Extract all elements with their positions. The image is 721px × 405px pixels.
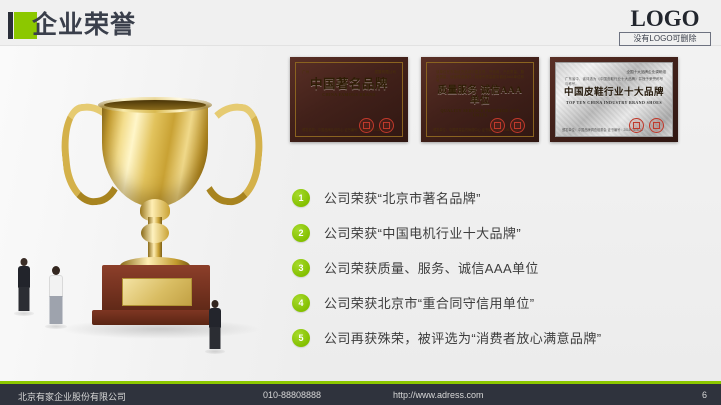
- certificate-seals: [629, 118, 664, 133]
- footer-url[interactable]: http://www.adress.com: [393, 390, 484, 400]
- trophy-stem-ball: [141, 223, 169, 243]
- certificate-gallery: 广州 发展有限公司 中国著名品牌 CHINA FAMOUS BRAND 颁发机构…: [290, 57, 680, 142]
- slide-canvas: 企业荣誉 LOGO 没有LOGO可删除: [0, 0, 721, 405]
- seal-stamp-icon: [649, 118, 664, 133]
- certificate-blurb: 该单位在市场经济活动中重合同、守信用、产品质量、服务质量、经营理念良好，特授予质…: [436, 70, 524, 84]
- header-accent-dark: [8, 12, 13, 39]
- certificate-toprow: 广州 发展有限公司: [302, 70, 396, 75]
- list-item-label: 公司再获殊荣，被评选为“消费者放心满意品牌”: [324, 328, 601, 347]
- footer-page-number: 6: [702, 390, 707, 400]
- logo-block: LOGO 没有LOGO可删除: [619, 7, 711, 46]
- person-body: [49, 275, 63, 297]
- certificate-toprow: 全国十大品牌企业调研组: [562, 70, 666, 75]
- list-item-label: 公司荣获“北京市著名品牌”: [324, 188, 481, 207]
- slide-header: 企业荣誉: [0, 0, 721, 46]
- list-item-number: 3: [292, 259, 310, 277]
- person-legs: [50, 296, 63, 324]
- person-shadow: [45, 324, 67, 329]
- certificate-title: 中国皮鞋行业十大品牌: [562, 89, 666, 99]
- footer-phone: 010-88808888: [263, 390, 321, 400]
- certificate-inner: 全国十大品牌企业调研组 广东省中、省评选为《中国皮鞋行业十大品牌》并授予荣誉称号…: [555, 62, 673, 137]
- certificate-top-right: 全国十大品牌企业调研组: [626, 70, 666, 75]
- person-shadow: [14, 311, 34, 316]
- page-title: 企业荣誉: [32, 10, 136, 40]
- person-figure-man-left: [44, 266, 68, 338]
- list-item[interactable]: 1 公司荣获“北京市著名品牌”: [292, 180, 692, 215]
- trophy-bowl: [102, 103, 208, 207]
- list-item[interactable]: 5 公司再获殊荣，被评选为“消费者放心满意品牌”: [292, 320, 692, 355]
- certificate-inner: 广州 发展有限公司 中国著名品牌 CHINA FAMOUS BRAND 颁发机构…: [295, 62, 403, 137]
- slide-footer: 北京有家企业股份有限公司 010-88808888 http://www.adr…: [0, 381, 721, 405]
- person-figure-man-right: [205, 300, 225, 360]
- trophy-rim-inner: [104, 100, 206, 110]
- certificate-title-en: CHINA FAMOUS BRAND: [302, 92, 396, 97]
- logo-text: LOGO: [619, 7, 711, 31]
- trophy-base-bottom: [92, 310, 220, 325]
- list-item-label: 公司荣获北京市“重合同守信用单位”: [324, 293, 534, 312]
- person-shadow: [205, 349, 225, 354]
- list-item[interactable]: 4 公司荣获北京市“重合同守信用单位”: [292, 285, 692, 320]
- person-head: [52, 266, 60, 275]
- certificate-title: 中国著名品牌: [302, 78, 396, 91]
- certificate-seals: [490, 118, 525, 133]
- list-item[interactable]: 2 公司荣获“中国电机行业十大品牌”: [292, 215, 692, 250]
- footer-company: 北京有家企业股份有限公司: [18, 390, 126, 403]
- seal-stamp-icon: [490, 118, 505, 133]
- logo-note: 没有LOGO可删除: [619, 32, 711, 46]
- list-item-number: 4: [292, 294, 310, 312]
- list-item-number: 5: [292, 329, 310, 347]
- trophy-illustration: [40, 95, 270, 335]
- certificate-title-en: QUALITY SERVICE PRESTIGE AAA UNITS: [433, 108, 527, 117]
- list-item-label: 公司荣获质量、服务、诚信AAA单位: [324, 258, 539, 277]
- seal-stamp-icon: [510, 118, 525, 133]
- person-head: [212, 300, 219, 308]
- certificate-top-right: 发展有限公司: [374, 70, 396, 75]
- seal-stamp-icon: [629, 118, 644, 133]
- seal-stamp-icon: [359, 118, 374, 133]
- person-head: [21, 258, 28, 266]
- person-body: [18, 266, 30, 288]
- person-legs: [210, 327, 221, 349]
- certificate-seals: [359, 118, 394, 133]
- certificate-title-en: TOP TEN CHINA INDUSTRY BRAND SHOES: [562, 100, 666, 105]
- achievement-list: 1 公司荣获“北京市著名品牌” 2 公司荣获“中国电机行业十大品牌” 3 公司荣…: [292, 180, 692, 355]
- list-item-number: 1: [292, 189, 310, 207]
- certificate-blurb: 广东省中、省评选为《中国皮鞋行业十大品牌》并授予荣誉称号与称号。: [565, 77, 663, 86]
- person-figure-woman-left: [14, 258, 34, 322]
- certificate-card[interactable]: 广州 发展有限公司 中国著名品牌 CHINA FAMOUS BRAND 颁发机构…: [290, 57, 408, 142]
- certificate-card[interactable]: 全国十大品牌企业调研组 广东省中、省评选为《中国皮鞋行业十大品牌》并授予荣誉称号…: [550, 57, 678, 142]
- list-item-label: 公司荣获“中国电机行业十大品牌”: [324, 223, 521, 242]
- certificate-card[interactable]: 该单位在市场经济活动中重合同、守信用、产品质量、服务质量、经营理念良好，特授予质…: [421, 57, 539, 142]
- person-body: [209, 308, 221, 328]
- certificate-top-left: 广州: [302, 70, 309, 75]
- certificate-title: 质量服务 诚信AAA单位: [433, 87, 527, 107]
- list-item[interactable]: 3 公司荣获质量、服务、诚信AAA单位: [292, 250, 692, 285]
- trophy-base-plate: [122, 278, 192, 306]
- seal-stamp-icon: [379, 118, 394, 133]
- list-item-number: 2: [292, 224, 310, 242]
- person-legs: [19, 287, 30, 311]
- certificate-inner: 该单位在市场经济活动中重合同、守信用、产品质量、服务质量、经营理念良好，特授予质…: [426, 62, 534, 137]
